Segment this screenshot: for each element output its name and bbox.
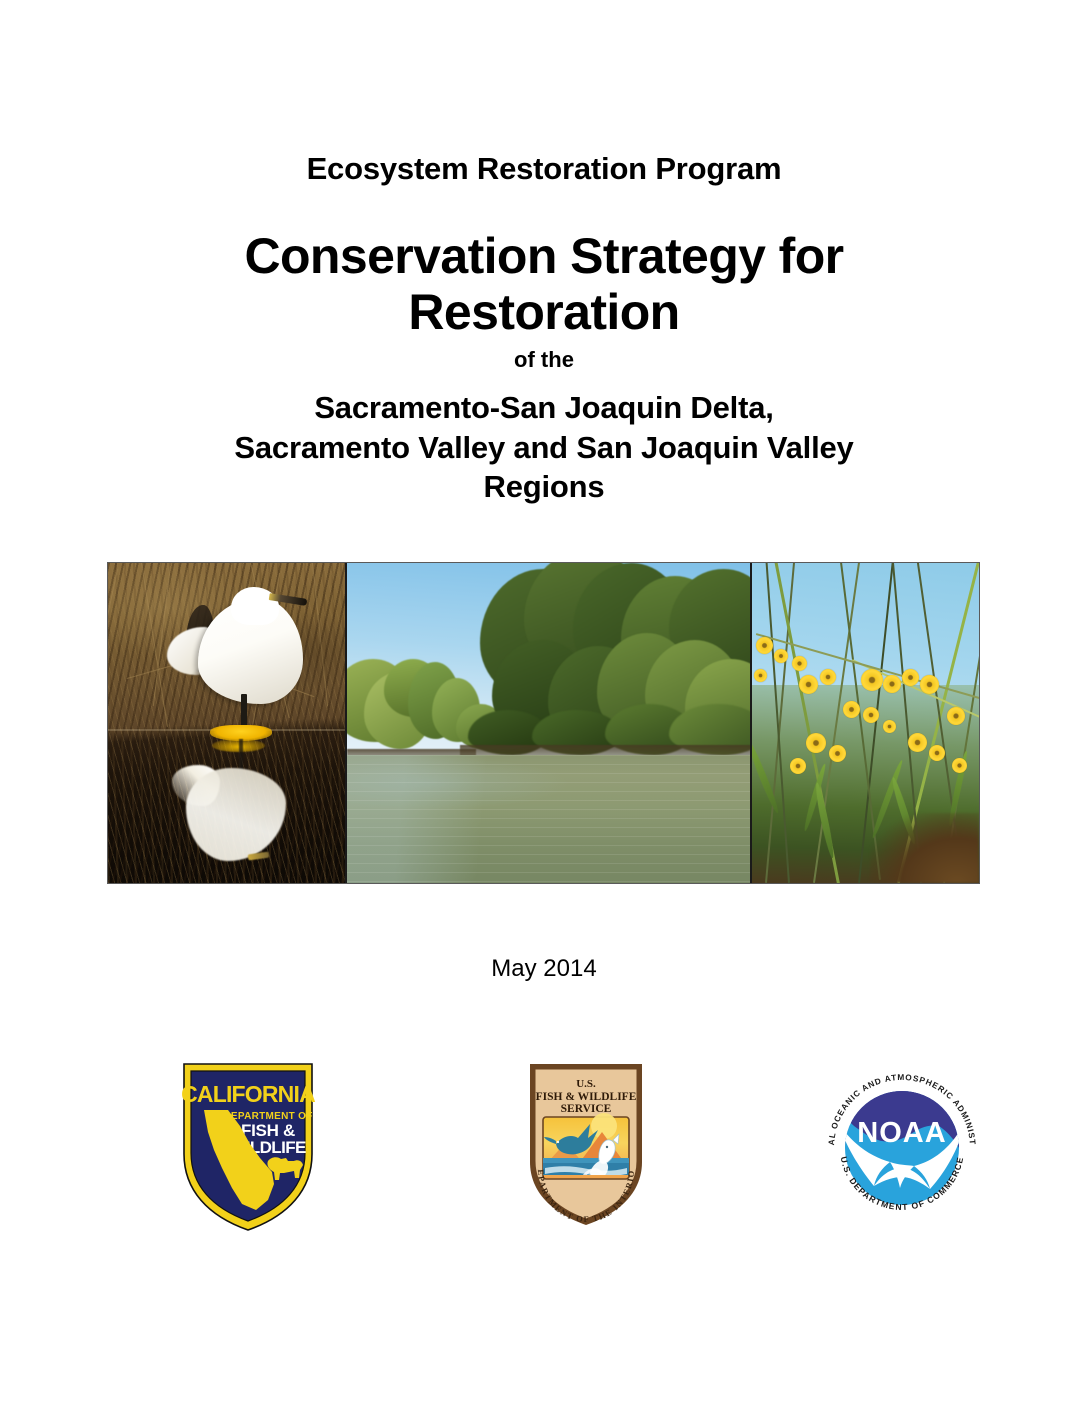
cdfw-line-1: CALIFORNIA xyxy=(181,1081,315,1107)
noaa-wordmark: NOAA xyxy=(857,1117,946,1149)
usfws-line-2: FISH & WILDLIFE xyxy=(536,1091,637,1103)
subtitle-line-3: Regions xyxy=(120,467,968,507)
photo-wildflowers xyxy=(750,563,979,883)
program-line: Ecosystem Restoration Program xyxy=(0,152,1088,186)
photo-riparian-river xyxy=(345,563,749,883)
usfws-logo: U.S. FISH & WILDLIFE SERVICE xyxy=(518,1058,654,1233)
bare-soil xyxy=(870,813,979,883)
usfws-line-1: U.S. xyxy=(576,1078,596,1090)
cover-page: Ecosystem Restoration Program Conservati… xyxy=(0,0,1088,1408)
cover-photo-band xyxy=(107,562,980,884)
page-title: Conservation Strategy for Restoration xyxy=(150,228,938,340)
subtitle-line-2: Sacramento Valley and San Joaquin Valley xyxy=(120,428,968,468)
agency-logo-row: CALIFORNIA DEPARTMENT OF FISH & WILDLIFE xyxy=(0,1058,1088,1233)
page-subtitle: Sacramento-San Joaquin Delta, Sacramento… xyxy=(120,388,968,507)
photo-snowy-egret xyxy=(108,563,345,883)
title-line-2: Restoration xyxy=(150,284,938,340)
title-line-1: Conservation Strategy for xyxy=(150,228,938,284)
subtitle-line-1: Sacramento-San Joaquin Delta, xyxy=(120,388,968,428)
document-date: May 2014 xyxy=(0,955,1088,983)
cdfw-logo: CALIFORNIA DEPARTMENT OF FISH & WILDLIFE xyxy=(176,1058,320,1233)
title-connector: of the xyxy=(0,347,1088,373)
river-water xyxy=(347,755,749,883)
noaa-logo: NOAA NATIONAL OCEANIC AND ATMOSPHERIC AD… xyxy=(816,1058,988,1230)
usfws-landscape-panel xyxy=(543,1113,629,1179)
